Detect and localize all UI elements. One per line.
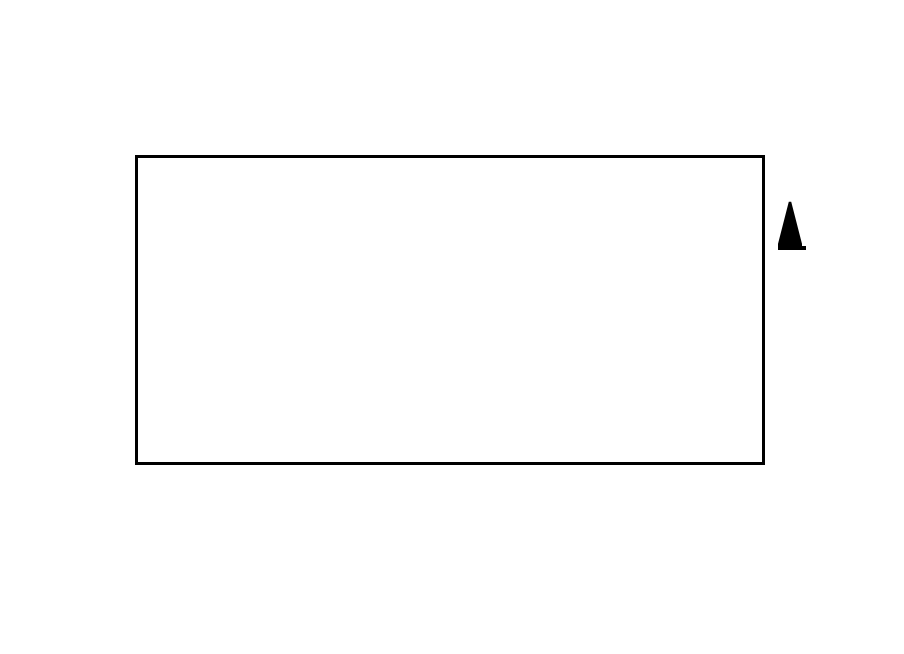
plot-frame	[135, 155, 765, 465]
colorbar-bands	[778, 246, 806, 250]
figure-canvas	[0, 0, 904, 654]
colorbar-over-range-cap	[778, 200, 802, 246]
